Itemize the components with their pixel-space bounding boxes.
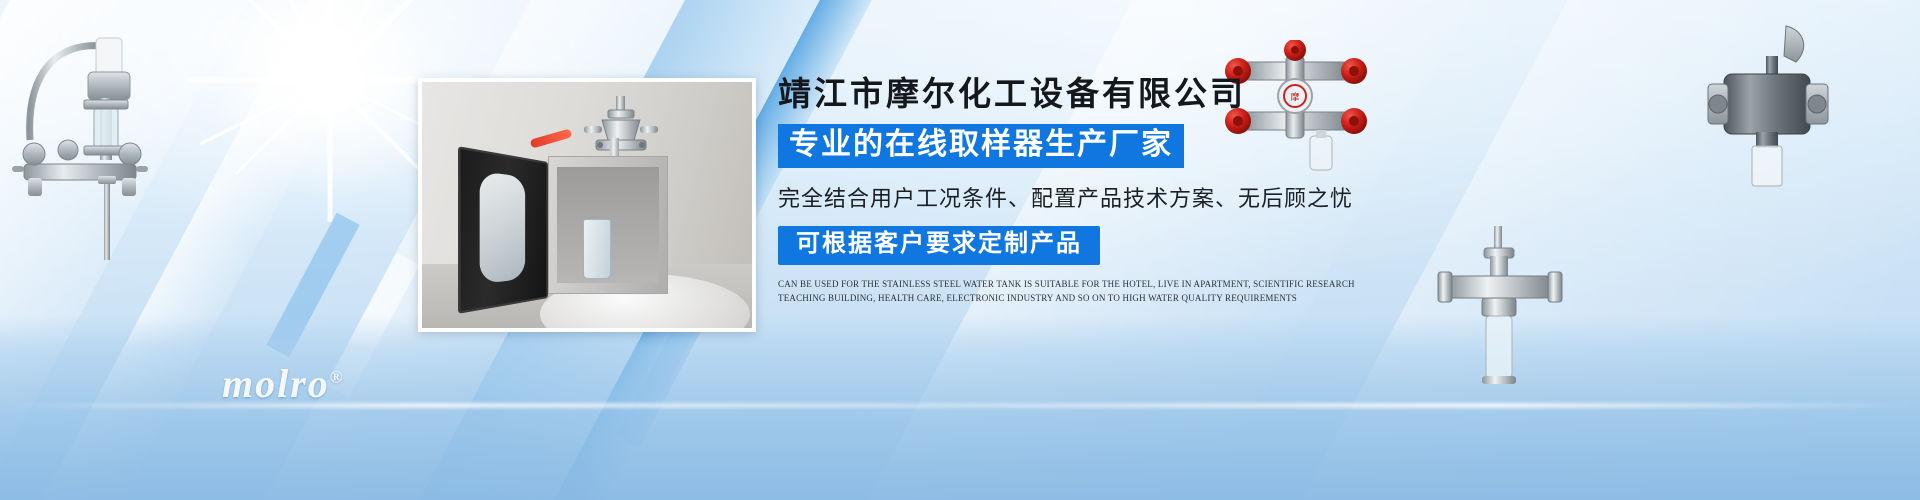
brand-watermark: molro® bbox=[222, 360, 345, 407]
registered-mark: ® bbox=[330, 368, 345, 387]
sample-bottle bbox=[583, 219, 611, 279]
cta-badge[interactable]: 可根据客户要求定制产品 bbox=[778, 226, 1100, 264]
banner-text-block: 靖江市摩尔化工设备有限公司 专业的在线取样器生产厂家 完全结合用户工况条件、配置… bbox=[778, 76, 1398, 306]
english-description: CAN BE USED FOR THE STAINLESS STEEL WATE… bbox=[778, 277, 1383, 306]
promo-banner: 摩 bbox=[0, 0, 1920, 500]
valve-assembly-icon bbox=[10, 20, 180, 260]
subtitle: 完全结合用户工况条件、配置产品技术方案、无后顾之忧 bbox=[778, 181, 1398, 213]
cabinet-door bbox=[458, 146, 548, 314]
page-title: 靖江市摩尔化工设备有限公司 bbox=[778, 76, 1398, 115]
headline-badge: 专业的在线取样器生产厂家 bbox=[778, 124, 1184, 168]
lever-valve-icon bbox=[1700, 22, 1828, 192]
online-sampler-cabinet-photo bbox=[418, 78, 756, 332]
sampler-cabinet bbox=[548, 156, 668, 294]
door-window bbox=[480, 171, 525, 284]
brand-name: molro bbox=[222, 361, 330, 406]
sampler-valve-icon bbox=[1432, 226, 1562, 391]
